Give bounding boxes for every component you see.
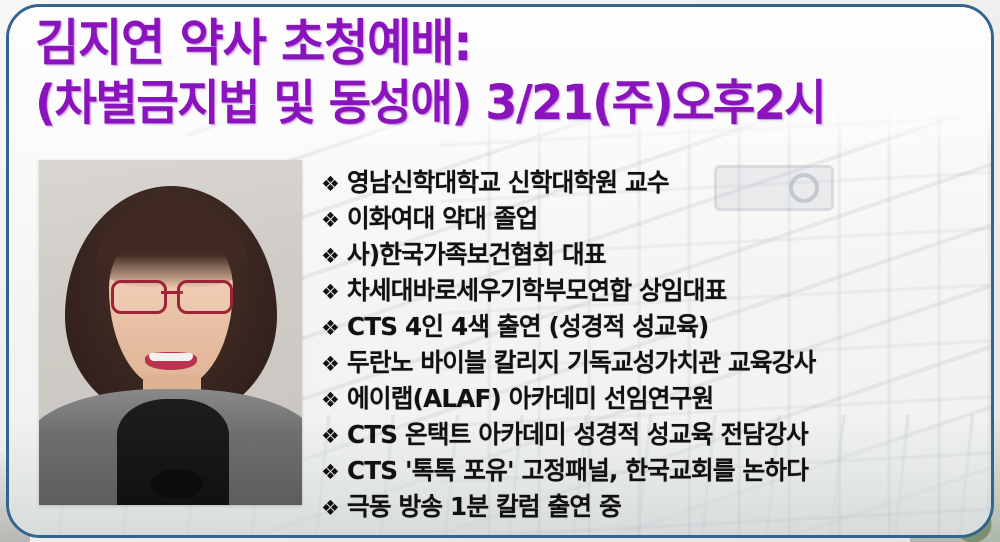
poster-root: 김지연 약사 초청예배: (차별금지법 및 동성애) 3/21(주)오후2시 [0,0,1000,542]
list-item: ❖ 에이랩(ALAF) 아카데미 선임연구원 [321,381,994,417]
diamond-bullet-icon: ❖ [321,418,347,454]
list-item: ❖ CTS 온택트 아카데미 성경적 성교육 전담강사 [321,417,994,453]
list-item-label: CTS 온택트 아카데미 성경적 성교육 전담강사 [347,417,808,453]
list-item: ❖ 사)한국가족보건협회 대표 [321,237,994,273]
diamond-bullet-icon: ❖ [321,310,347,346]
diamond-bullet-icon: ❖ [321,454,347,490]
list-item-label: 영남신학대학교 신학대학원 교수 [347,165,669,201]
portrait-glasses-icon [111,280,233,310]
list-item: ❖ 두란노 바이블 칼리지 기독교성가치관 교육강사 [321,345,994,381]
diamond-bullet-icon: ❖ [321,382,347,418]
diamond-bullet-icon: ❖ [321,490,347,526]
page-title: 김지연 약사 초청예배: (차별금지법 및 동성애) 3/21(주)오후2시 [35,13,957,133]
credentials-list: ❖ 영남신학대학교 신학대학원 교수 ❖ 이화여대 약대 졸업 ❖ 사)한국가족… [321,165,994,525]
list-item: ❖ 극동 방송 1분 칼럼 출연 중 [321,489,994,525]
portrait-lens-left [111,280,167,314]
list-item-label: 차세대바로세우기학부모연합 상임대표 [347,273,727,309]
portrait-bow [151,469,203,499]
speaker-portrait-photo [39,160,302,505]
list-item-label: CTS 4인 4색 출연 (성경적 성교육) [347,309,708,345]
portrait-teeth [149,353,193,361]
list-item-label: 에이랩(ALAF) 아카데미 선임연구원 [347,381,713,417]
list-item: ❖ 이화여대 약대 졸업 [321,201,994,237]
list-item-label: 극동 방송 1분 칼럼 출연 중 [347,489,621,525]
title-band: 김지연 약사 초청예배: (차별금지법 및 동성애) 3/21(주)오후2시 [9,7,991,153]
poster-card: 김지연 약사 초청예배: (차별금지법 및 동성애) 3/21(주)오후2시 [6,4,994,538]
list-item: ❖ CTS '톡톡 포유' 고정패널, 한국교회를 논하다 [321,453,994,489]
portrait-lens-right [177,280,233,314]
title-line-1: 김지연 약사 초청예배: [35,13,957,73]
list-item-label: 두란노 바이블 칼리지 기독교성가치관 교육강사 [347,345,815,381]
list-item: ❖ 영남신학대학교 신학대학원 교수 [321,165,994,201]
list-item: ❖ CTS 4인 4색 출연 (성경적 성교육) [321,309,994,345]
list-item: ❖ 차세대바로세우기학부모연합 상임대표 [321,273,994,309]
diamond-bullet-icon: ❖ [321,346,347,382]
list-item-label: 사)한국가족보건협회 대표 [347,237,606,273]
list-item-label: CTS '톡톡 포유' 고정패널, 한국교회를 논하다 [347,453,808,489]
diamond-bullet-icon: ❖ [321,238,347,274]
diamond-bullet-icon: ❖ [321,202,347,238]
diamond-bullet-icon: ❖ [321,166,347,202]
diamond-bullet-icon: ❖ [321,274,347,310]
list-item-label: 이화여대 약대 졸업 [347,201,538,237]
title-line-2: (차별금지법 및 동성애) 3/21(주)오후2시 [35,73,957,133]
